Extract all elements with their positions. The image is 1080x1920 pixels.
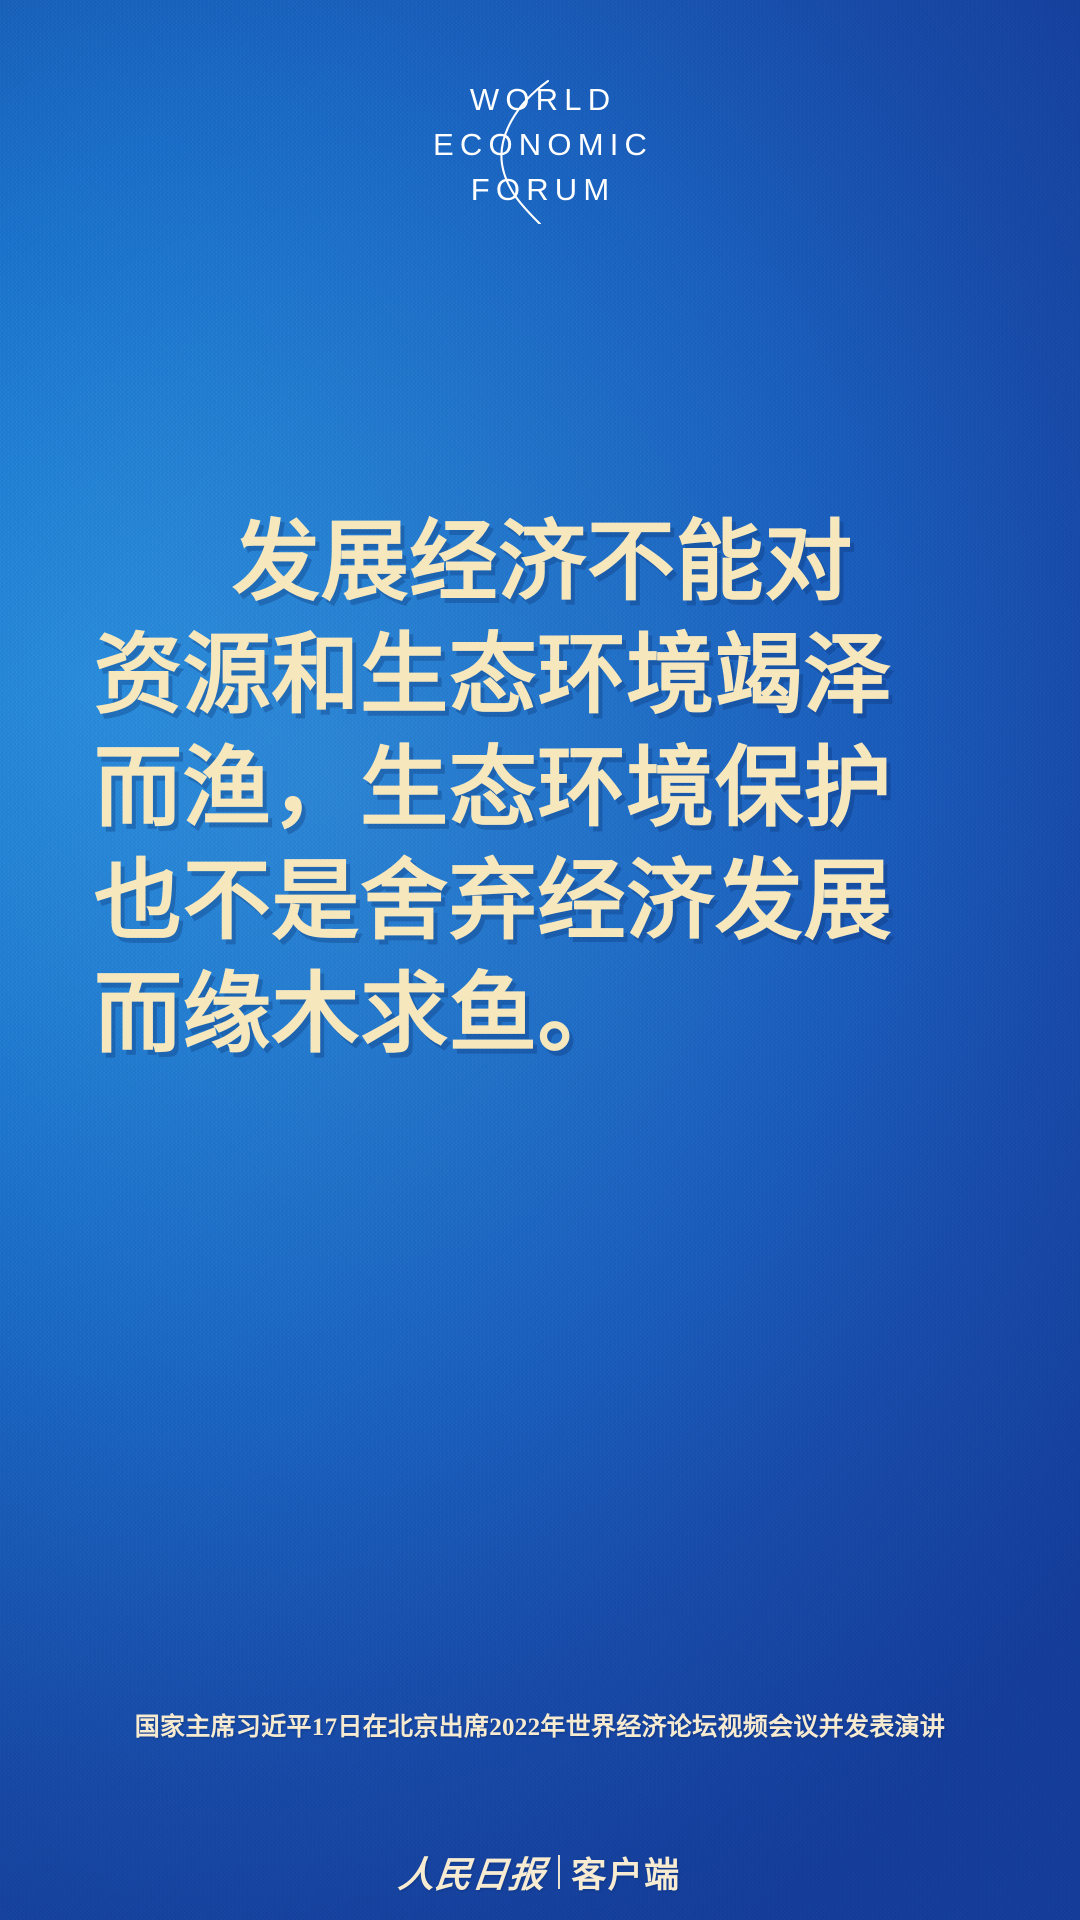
wef-logo-line-world: WORLD <box>390 84 690 115</box>
headline-line-3: 而渔，生态环境保护 <box>0 731 1080 844</box>
headline-line-2: 资源和生态环境竭泽 <box>0 618 1080 731</box>
headline-line-1: 发展经济不能对 <box>0 505 1080 618</box>
headline-quote: 发展经济不能对 资源和生态环境竭泽 而渔，生态环境保护 也不是舍弃经济发展 而缘… <box>0 505 1080 1070</box>
wef-logo-line-forum: FORUM <box>390 174 690 205</box>
headline-line-5: 而缘木求鱼。 <box>0 957 1080 1070</box>
peoples-daily-wordmark: 人民日报 <box>397 1846 561 1898</box>
caption: 国家主席习近平17日在北京出席2022年世界经济论坛视频会议并发表演讲 <box>0 1707 1080 1743</box>
brand-divider <box>558 1855 560 1889</box>
wef-wordmark: WORLD ECONOMIC FORUM <box>390 84 690 205</box>
wef-logo-line-economic: ECONOMIC <box>390 129 690 160</box>
caption-text: 国家主席习近平17日在北京出席2022年世界经济论坛视频会议并发表演讲 <box>135 1707 946 1743</box>
headline-line-4: 也不是舍弃经济发展 <box>0 844 1080 957</box>
poster-canvas: WORLD ECONOMIC FORUM 发展经济不能对 资源和生态环境竭泽 而… <box>0 0 1080 1920</box>
publisher-brand: 人民日报 客户端 <box>0 1846 1080 1898</box>
world-economic-forum-logo: WORLD ECONOMIC FORUM <box>0 76 1080 226</box>
app-name-label: 客户端 <box>571 1847 680 1898</box>
